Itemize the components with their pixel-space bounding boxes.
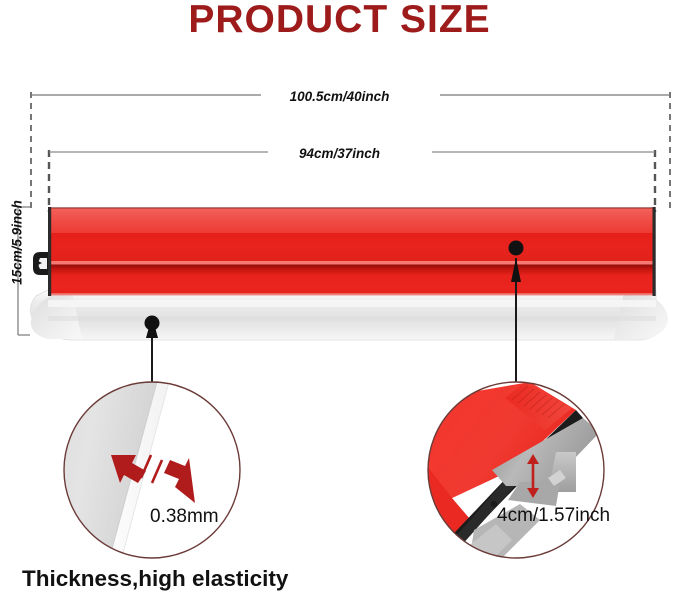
- feature-caption: Thickness,high elasticity: [22, 566, 288, 592]
- silver-blade: [30, 290, 668, 340]
- dimension-blade-length-label: 94cm/37inch: [292, 146, 387, 161]
- dimension-blade-length: 94cm/37inch: [0, 145, 679, 163]
- callout-width-value: 4cm/1.57inch: [497, 505, 610, 527]
- red-squeegee-body: [48, 207, 656, 296]
- magnifier-left: [20, 378, 260, 564]
- callout-thickness-value: 0.38mm: [150, 506, 219, 528]
- magnifier-right: [424, 378, 610, 566]
- dimension-overall-length: 100.5cm/40inch: [0, 88, 679, 106]
- hanging-hook-icon: [33, 252, 48, 275]
- dimension-overall-length-label: 100.5cm/40inch: [283, 89, 397, 104]
- dimension-height-label: 15cm/5.9inch: [10, 198, 25, 288]
- product-size-infographic: PRODUCT SIZE: [0, 0, 679, 603]
- leader-line-left: [145, 316, 160, 385]
